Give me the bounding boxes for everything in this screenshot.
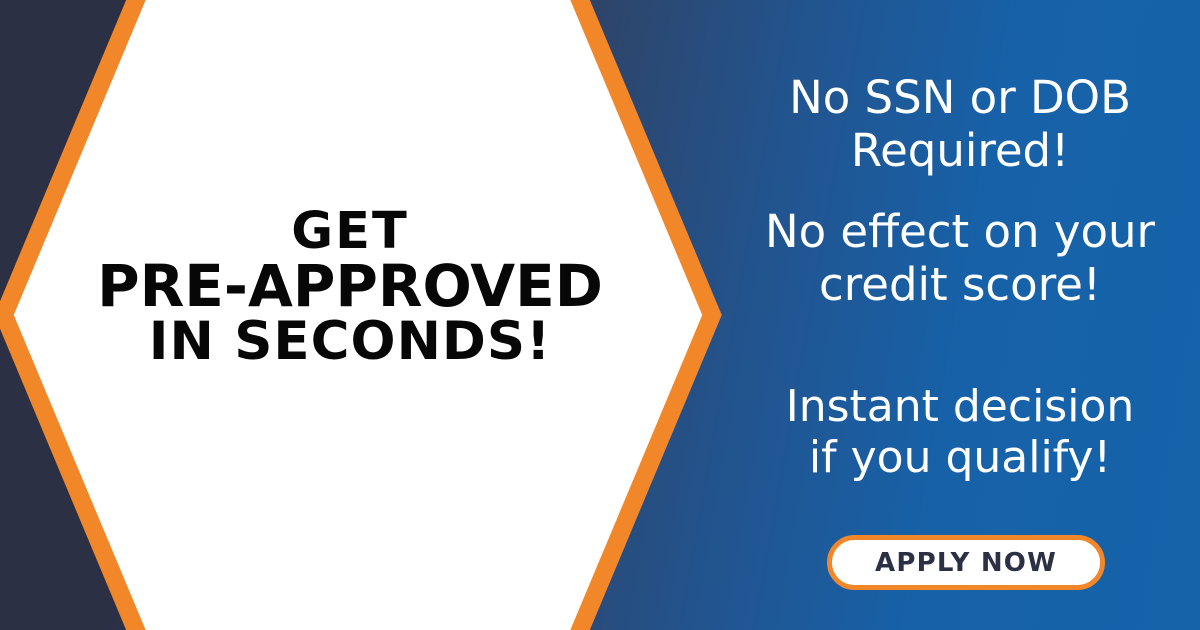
page-title: GET PRE-APPROVED IN SECONDS!: [20, 206, 680, 368]
benefit-item-instant-decision: Instant decision if you qualify!: [720, 381, 1200, 484]
promo-banner: GET PRE-APPROVED IN SECONDS! No SSN or D…: [0, 0, 1200, 630]
benefit-0-line-2: Required!: [720, 125, 1200, 178]
benefit-2-line-2: if you qualify!: [720, 432, 1200, 483]
benefit-2-line-1: Instant decision: [720, 381, 1200, 432]
benefit-1-line-1: No effect on your: [720, 206, 1200, 259]
apply-now-button[interactable]: APPLY NOW: [827, 535, 1105, 590]
benefit-1-line-2: credit score!: [720, 259, 1200, 312]
benefit-item-credit-score: No effect on your credit score!: [720, 206, 1200, 311]
headline-line-3: IN SECONDS!: [20, 315, 680, 368]
benefit-item-ssn-dob: No SSN or DOB Required!: [720, 72, 1200, 177]
headline-line-1: GET: [20, 206, 680, 257]
headline-line-2: PRE-APPROVED: [20, 257, 680, 315]
benefit-0-line-1: No SSN or DOB: [720, 72, 1200, 125]
